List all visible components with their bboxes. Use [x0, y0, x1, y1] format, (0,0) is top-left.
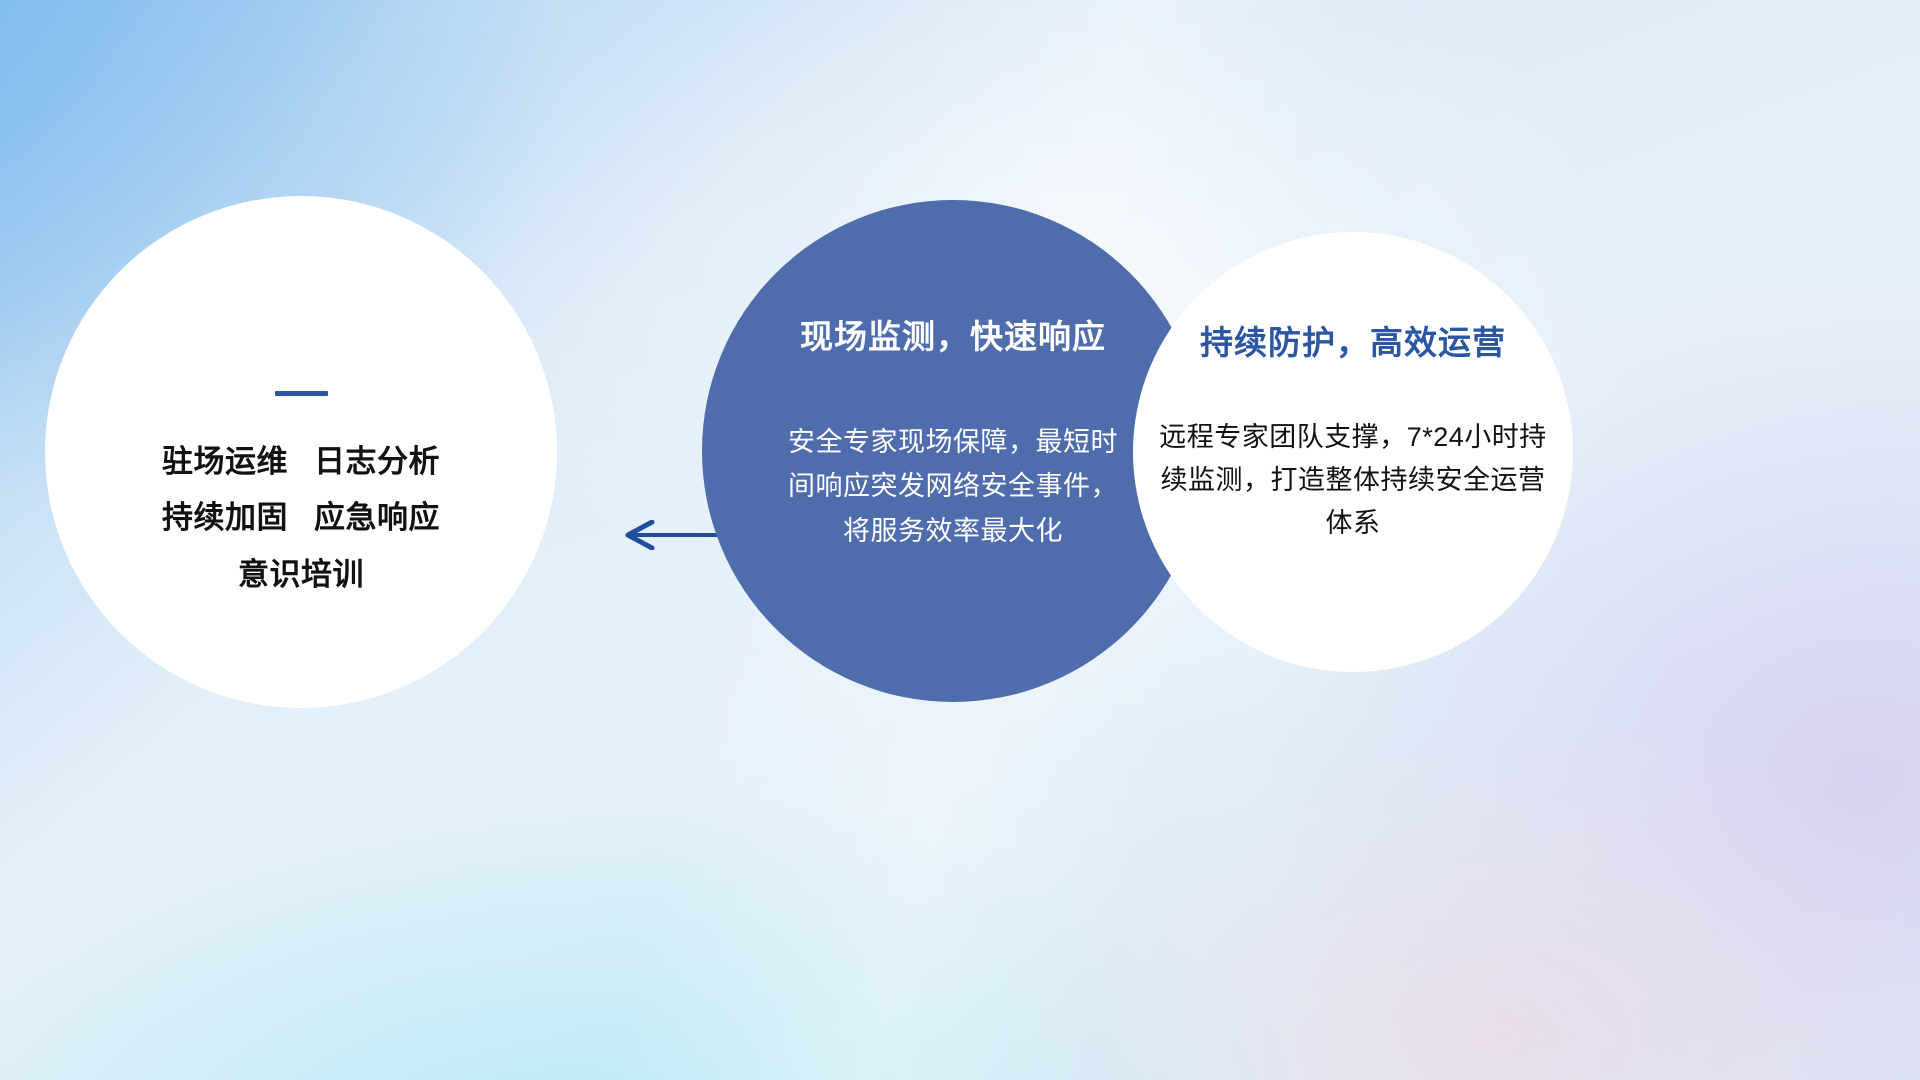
- keyword-item: 应急响应: [314, 500, 440, 535]
- continuous-protection-title: 持续防护，高效运营: [1200, 316, 1506, 364]
- onsite-monitoring-body: 安全专家现场保障，最短时间响应突发网络安全事件，将服务效率最大化: [783, 420, 1123, 553]
- keyword-item: 驻场运维: [162, 444, 288, 479]
- onsite-monitoring-circle: 现场监测，快速响应 安全专家现场保障，最短时间响应突发网络安全事件，将服务效率最…: [702, 200, 1204, 702]
- keyword-row: 持续加固应急响应: [162, 490, 440, 546]
- left-keywords-circle: 驻场运维日志分析 持续加固应急响应 意识培训: [45, 196, 557, 708]
- slide-canvas: 驻场运维日志分析 持续加固应急响应 意识培训 现场监测，快速响应 安全专家现场保…: [0, 0, 1920, 1080]
- keyword-item: 意识培训: [238, 557, 364, 592]
- keyword-list: 驻场运维日志分析 持续加固应急响应 意识培训: [162, 434, 440, 603]
- onsite-monitoring-title: 现场监测，快速响应: [800, 310, 1106, 358]
- keyword-row: 驻场运维日志分析: [162, 434, 440, 490]
- keyword-row: 意识培训: [162, 547, 440, 603]
- accent-dash-icon: [275, 391, 328, 396]
- keyword-item: 日志分析: [314, 444, 440, 479]
- continuous-protection-body: 远程专家团队支撑，7*24小时持续监测，打造整体持续安全运营体系: [1148, 416, 1558, 546]
- keyword-item: 持续加固: [162, 500, 288, 535]
- continuous-protection-circle: 持续防护，高效运营 远程专家团队支撑，7*24小时持续监测，打造整体持续安全运营…: [1133, 232, 1573, 672]
